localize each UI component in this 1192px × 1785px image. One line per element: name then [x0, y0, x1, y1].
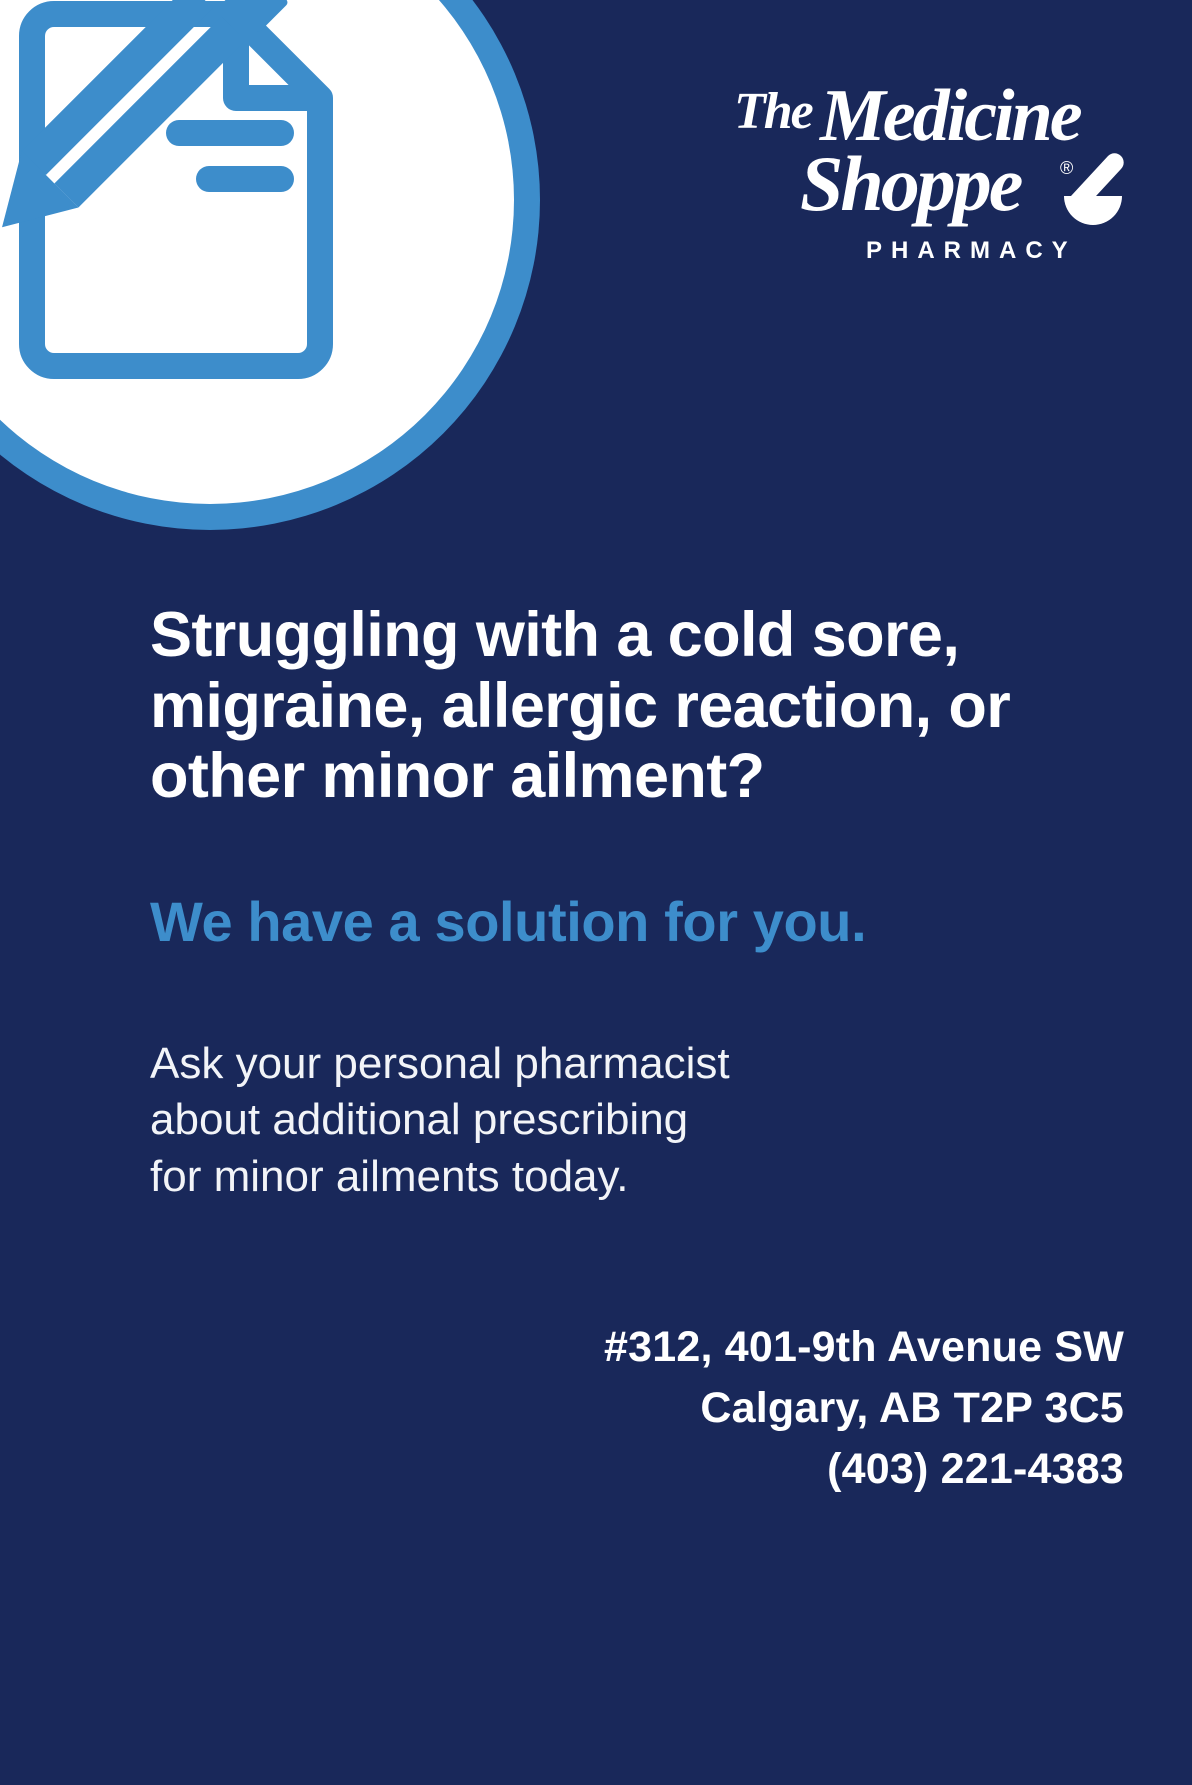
copy-block: Struggling with a cold sore, migraine, a… — [150, 600, 1080, 1205]
address-phone[interactable]: (403) 221-4383 — [604, 1439, 1124, 1500]
logo-registered-mark: ® — [1060, 158, 1073, 178]
headline-line-1: Struggling with a cold sore, — [150, 600, 959, 670]
medicine-shoppe-logo: The Medicine Shoppe ® PHARMACY — [716, 78, 1136, 278]
address-street: #312, 401-9th Avenue SW — [604, 1317, 1124, 1378]
logo-tagline: PHARMACY — [866, 237, 1077, 264]
page-title: Struggling with a cold sore, migraine, a… — [150, 600, 1080, 812]
body-line-2: about additional prescribing — [150, 1092, 1080, 1148]
headline-line-2: migraine, allergic reaction, — [150, 671, 932, 741]
document-with-pencil-icon — [0, 0, 438, 420]
poster-canvas: The Medicine Shoppe ® PHARMACY Strugglin… — [0, 0, 1192, 1785]
subheadline: We have a solution for you. — [150, 890, 1080, 954]
store-address-block: #312, 401-9th Avenue SW Calgary, AB T2P … — [604, 1317, 1124, 1500]
logo-the: The — [734, 83, 813, 140]
address-city-postal: Calgary, AB T2P 3C5 — [604, 1378, 1124, 1439]
badge-circle — [0, 0, 540, 530]
body-line-3: for minor ailments today. — [150, 1149, 1080, 1205]
logo-shoppe: Shoppe — [800, 140, 1022, 227]
body-line-1: Ask your personal pharmacist — [150, 1036, 1080, 1092]
body-copy: Ask your personal pharmacist about addit… — [150, 1036, 1080, 1205]
